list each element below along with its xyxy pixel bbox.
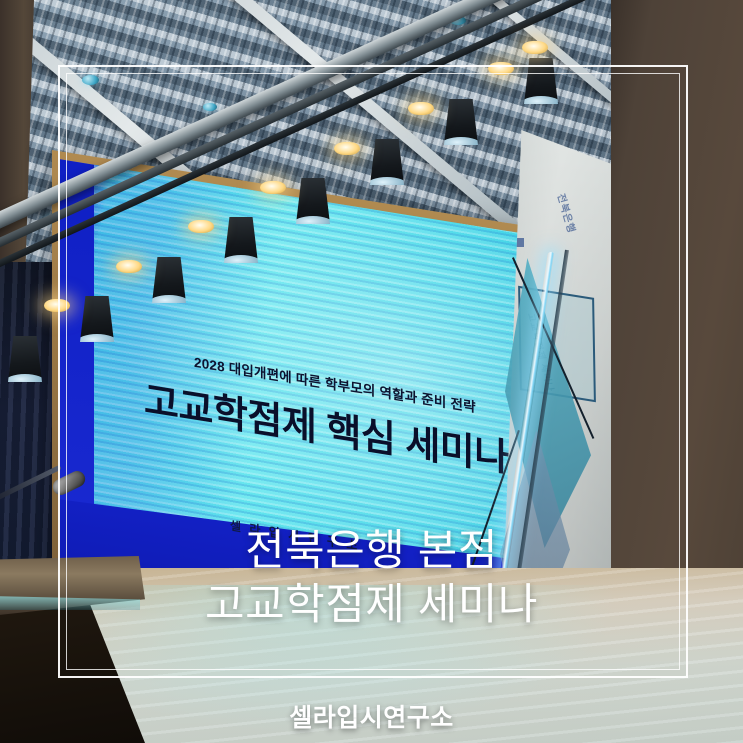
screenshot-root: 2028 대입개편에 따른 학부모의 역할과 준비 전략 고교학점제 핵심 세미…: [0, 0, 743, 743]
overlay-headline-line-1: 전북은행 본점: [0, 524, 743, 578]
overlay-headline-line-2: 고교학점제 세미나: [0, 578, 743, 632]
truss-lamp: [116, 260, 142, 273]
truss-lamp: [488, 62, 514, 75]
truss-bar-lower: [0, 0, 743, 265]
spotlight: [524, 58, 558, 104]
spotlight: [224, 217, 258, 263]
spotlight: [370, 139, 404, 185]
truss-lamp: [522, 41, 548, 54]
spotlight: [444, 99, 478, 145]
spotlight: [8, 336, 42, 382]
spotlight: [296, 178, 330, 224]
truss-lamp: [44, 299, 70, 312]
truss-lamp: [334, 142, 360, 155]
truss-lamp: [260, 181, 286, 194]
overlay-footer-brand: 셀라입시연구소: [0, 698, 743, 734]
truss-lamp: [188, 220, 214, 233]
truss-lamp: [408, 102, 434, 115]
spotlight: [152, 257, 186, 303]
overlay-headline: 전북은행 본점 고교학점제 세미나: [0, 524, 743, 632]
spotlight: [80, 296, 114, 342]
